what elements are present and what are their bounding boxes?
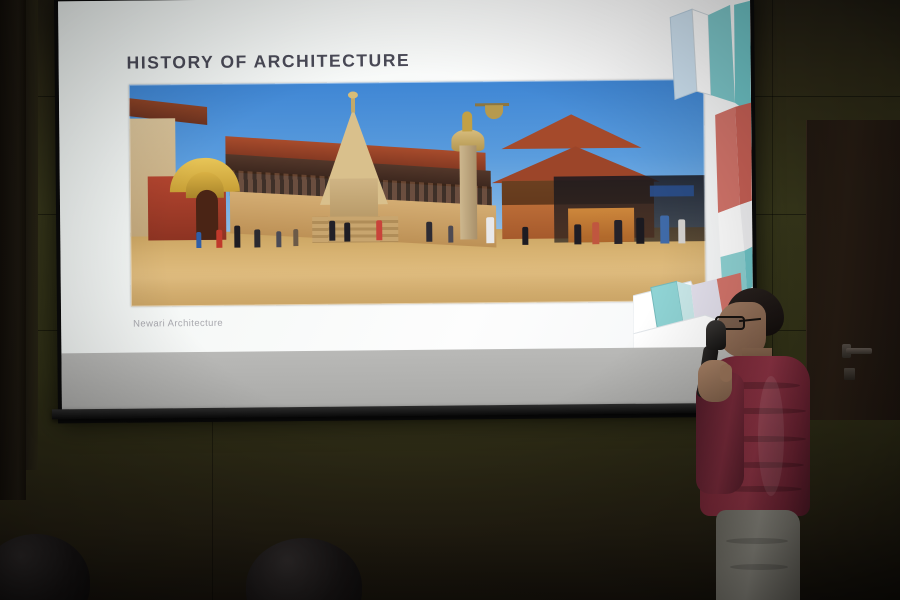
wall-pillar: [0, 0, 26, 500]
door-handle-icon[interactable]: [846, 348, 872, 354]
photo-caption: Newari Architecture: [133, 318, 223, 330]
door-lock-icon: [844, 368, 855, 380]
photo-border: [129, 79, 706, 307]
projection-screen: HISTORY OF ARCHITECTURE: [58, 0, 754, 415]
presentation-slide: HISTORY OF ARCHITECTURE: [58, 0, 753, 355]
presenter-thumb: [720, 364, 732, 382]
microphone-icon: [706, 320, 726, 350]
slide-photo: [129, 79, 706, 307]
page-title: HISTORY OF ARCHITECTURE: [127, 50, 411, 74]
presenter: [690, 286, 840, 600]
auditorium-scene: HISTORY OF ARCHITECTURE: [0, 0, 900, 600]
presenter-pants: [716, 510, 800, 600]
